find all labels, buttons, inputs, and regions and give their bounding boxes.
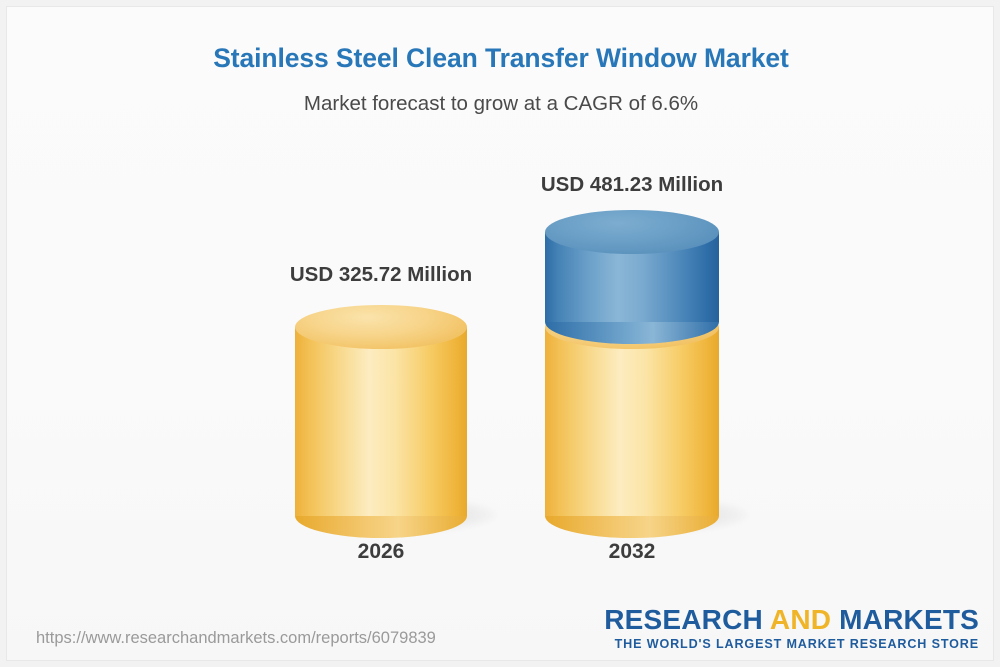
bar-group-2032: USD 481.23 Million 2032 [545, 7, 719, 661]
report-url[interactable]: https://www.researchandmarkets.com/repor… [36, 629, 436, 648]
bar-value-label-2032: USD 481.23 Million [455, 173, 809, 197]
logo-wordmark: RESEARCH AND MARKETS [604, 605, 979, 634]
research-and-markets-logo: RESEARCH AND MARKETS THE WORLD'S LARGEST… [604, 605, 979, 651]
cylinder-lower-body-2032 [545, 327, 719, 516]
bar-group-2026: USD 325.72 Million 2026 [295, 7, 467, 661]
logo-word-and: AND [770, 604, 831, 635]
logo-word-research: RESEARCH [604, 604, 763, 635]
chart-canvas: Stainless Steel Clean Transfer Window Ma… [6, 6, 994, 661]
bar-category-label-2026: 2026 [255, 540, 507, 564]
cylinder-top-cap-2026 [295, 305, 467, 349]
logo-word-markets: MARKETS [839, 604, 979, 635]
cylinder-upper-top-cap-2032 [545, 210, 719, 254]
logo-tagline: THE WORLD'S LARGEST MARKET RESEARCH STOR… [604, 637, 979, 651]
cylinder-body-2026 [295, 327, 467, 516]
bar-value-label-2026: USD 325.72 Million [205, 263, 557, 287]
bar-category-label-2032: 2032 [505, 540, 759, 564]
plot-area: USD 325.72 Million 2026 USD 481.23 Milli… [7, 7, 994, 661]
chart-figure: Stainless Steel Clean Transfer Window Ma… [0, 0, 1000, 667]
